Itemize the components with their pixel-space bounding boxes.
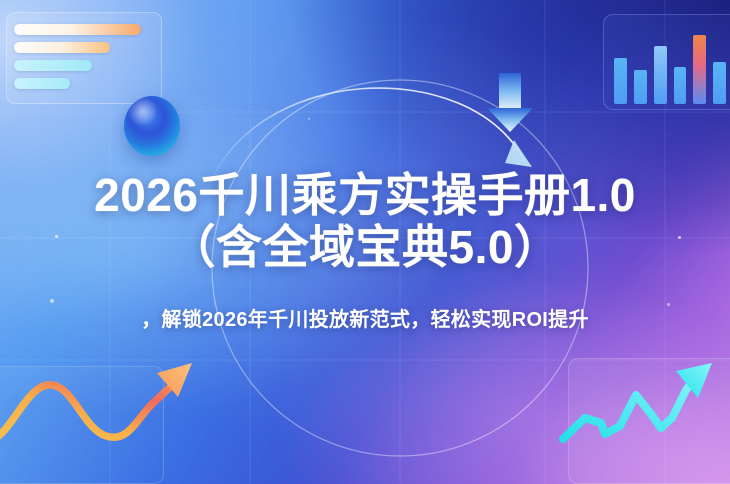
sparkle-dot	[308, 118, 310, 120]
title-line-primary: 2026千川乘方实操手册1.0	[0, 172, 730, 220]
banner-subtitle: ，解锁2026年千川投放新范式，轻松实现ROI提升	[0, 303, 730, 332]
promo-banner: 2026千川乘方实操手册1.0 （含全域宝典5.0） ，解锁2026年千川投放新…	[0, 0, 730, 484]
cyan-zigzag-arrow-up	[563, 372, 700, 439]
title-line-secondary: （含全域宝典5.0）	[0, 224, 730, 272]
banner-title: 2026千川乘方实操手册1.0 （含全域宝典5.0）	[0, 172, 730, 272]
